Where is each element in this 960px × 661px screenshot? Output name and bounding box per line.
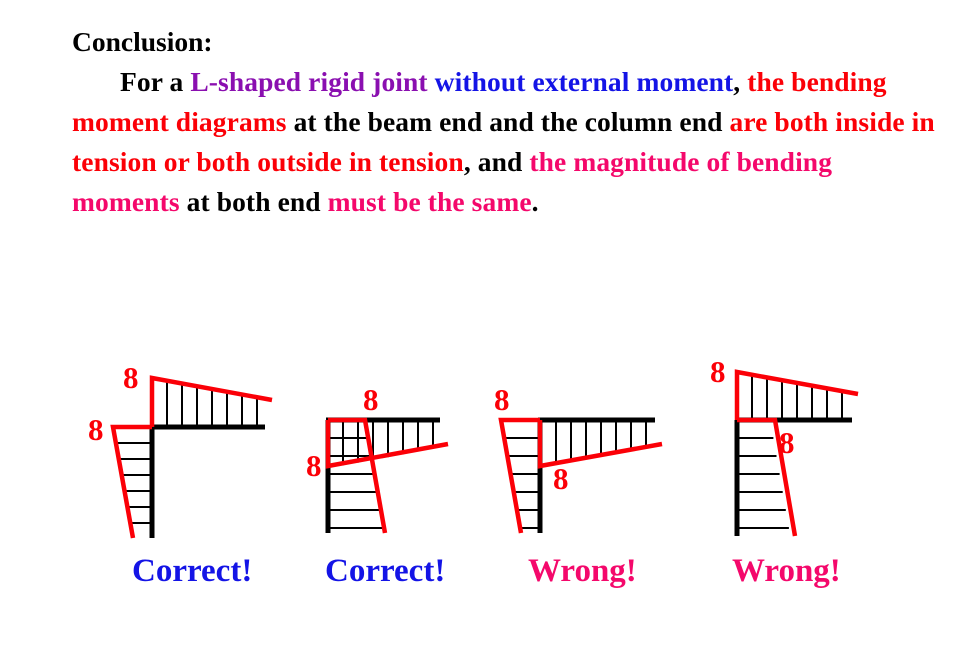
figure-captions-row: Correct! Correct! Wrong! Wrong! [0,550,960,600]
figure-3-beam-hatch [556,420,646,464]
seg-at-both-end: at both end [187,186,328,217]
figure-3-beam-value-label: 8 [553,461,569,496]
conclusion-text-block: Conclusion: For a L-shaped rigid joint w… [72,22,940,222]
seg-and: , and [464,146,530,177]
seg-l-shaped-rigid-joint: L-shaped rigid joint [190,66,434,97]
seg-for-a: For a [120,66,190,97]
figure-3: 8 8 [494,382,662,533]
seg-comma-1: , [733,66,747,97]
bending-moment-figures: 8 8 [0,348,960,568]
conclusion-heading: Conclusion: [72,22,940,62]
figure-4: 8 8 [710,354,858,536]
figure-1-beam-value-label: 8 [123,360,139,395]
figure-3-column-value-label: 8 [494,382,510,417]
figure-3-column-hatch [503,438,540,528]
conclusion-paragraph: For a L-shaped rigid joint without exter… [72,62,940,222]
seg-without-external-moment: without external moment [435,66,734,97]
seg-period: . [532,186,539,217]
figure-1-verdict-label: Correct! [132,550,252,592]
figure-1: 8 8 [88,360,272,538]
figure-3-verdict-label: Wrong! [528,550,637,592]
figure-4-verdict-label: Wrong! [732,550,841,592]
figure-2-column-value-label: 8 [306,448,322,483]
figure-3-column-moment-curve [501,420,540,533]
figure-1-column-value-label: 8 [88,412,104,447]
figure-2-beam-value-label: 8 [363,382,379,417]
seg-must-be-the-same: must be the same [328,186,532,217]
figure-4-column-value-label: 8 [779,425,795,460]
figure-2-verdict-label: Correct! [325,550,445,592]
figures-svg: 8 8 [0,348,960,568]
figure-4-beam-value-label: 8 [710,354,726,389]
seg-at-beam-and-column-end: at the beam end and the column end [294,106,730,137]
figure-2-column-moment-curve [328,420,385,533]
figure-2: 8 8 [306,382,448,533]
